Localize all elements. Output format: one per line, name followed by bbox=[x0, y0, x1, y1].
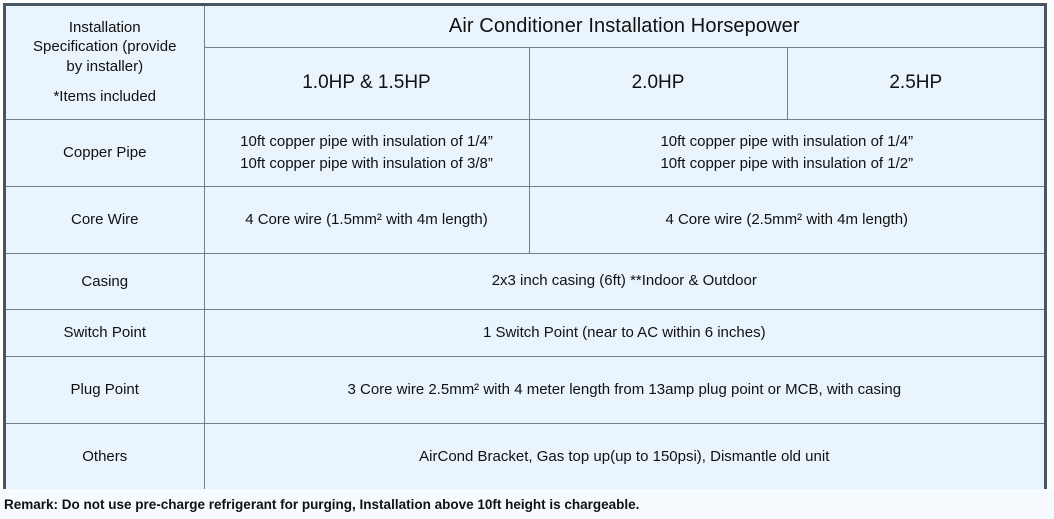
remark-strip: Remark: Do not use pre-charge refrigeran… bbox=[0, 489, 1054, 519]
spec-header-line-3: by installer) bbox=[66, 58, 143, 75]
spec-header-spacer bbox=[12, 77, 198, 87]
spec-header-cell: Installation Specification (provide by i… bbox=[5, 5, 204, 119]
hp-column-header-3: 2.5HP bbox=[787, 47, 1045, 119]
table-row: Plug Point 3 Core wire 2.5mm² with 4 met… bbox=[5, 356, 1045, 423]
table-row: Core Wire 4 Core wire (1.5mm² with 4m le… bbox=[5, 186, 1045, 253]
remark-text: Remark: Do not use pre-charge refrigeran… bbox=[4, 497, 639, 512]
cell-casing: 2x3 inch casing (6ft) **Indoor & Outdoor bbox=[204, 253, 1045, 309]
row-label-switch-point: Switch Point bbox=[5, 309, 204, 356]
table-row: Others AirCond Bracket, Gas top up(up to… bbox=[5, 423, 1045, 491]
installation-spec-table: Installation Specification (provide by i… bbox=[4, 4, 1046, 492]
spec-header-line-1: Installation bbox=[69, 19, 141, 36]
group-header-cell: Air Conditioner Installation Horsepower bbox=[204, 5, 1045, 47]
copper-pipe-large-line-1: 10ft copper pipe with insulation of 1/4” bbox=[660, 133, 913, 150]
cell-others: AirCond Bracket, Gas top up(up to 150psi… bbox=[204, 423, 1045, 491]
cell-plug-point: 3 Core wire 2.5mm² with 4 meter length f… bbox=[204, 356, 1045, 423]
table-row: Casing 2x3 inch casing (6ft) **Indoor & … bbox=[5, 253, 1045, 309]
table-row: Copper Pipe 10ft copper pipe with insula… bbox=[5, 119, 1045, 186]
table-header-row-group: Installation Specification (provide by i… bbox=[5, 5, 1045, 47]
copper-pipe-large-line-2: 10ft copper pipe with insulation of 1/2” bbox=[660, 155, 913, 172]
row-label-others: Others bbox=[5, 423, 204, 491]
hp-column-header-1: 1.0HP & 1.5HP bbox=[204, 47, 529, 119]
spec-header-line-2: Specification (provide bbox=[33, 38, 176, 55]
row-label-plug-point: Plug Point bbox=[5, 356, 204, 423]
row-label-core-wire: Core Wire bbox=[5, 186, 204, 253]
cell-copper-pipe-large: 10ft copper pipe with insulation of 1/4”… bbox=[529, 119, 1045, 186]
row-label-copper-pipe: Copper Pipe bbox=[5, 119, 204, 186]
cell-switch-point: 1 Switch Point (near to AC within 6 inch… bbox=[204, 309, 1045, 356]
cell-core-wire-large: 4 Core wire (2.5mm² with 4m length) bbox=[529, 186, 1045, 253]
cell-core-wire-small: 4 Core wire (1.5mm² with 4m length) bbox=[204, 186, 529, 253]
row-label-casing: Casing bbox=[5, 253, 204, 309]
hp-column-header-2: 2.0HP bbox=[529, 47, 787, 119]
spec-sheet: Installation Specification (provide by i… bbox=[0, 0, 1054, 519]
cell-copper-pipe-small: 10ft copper pipe with insulation of 1/4”… bbox=[204, 119, 529, 186]
table-row: Switch Point 1 Switch Point (near to AC … bbox=[5, 309, 1045, 356]
copper-pipe-small-line-2: 10ft copper pipe with insulation of 3/8” bbox=[240, 155, 493, 172]
copper-pipe-small-line-1: 10ft copper pipe with insulation of 1/4” bbox=[240, 133, 493, 150]
spec-header-items-included: *Items included bbox=[53, 88, 156, 105]
